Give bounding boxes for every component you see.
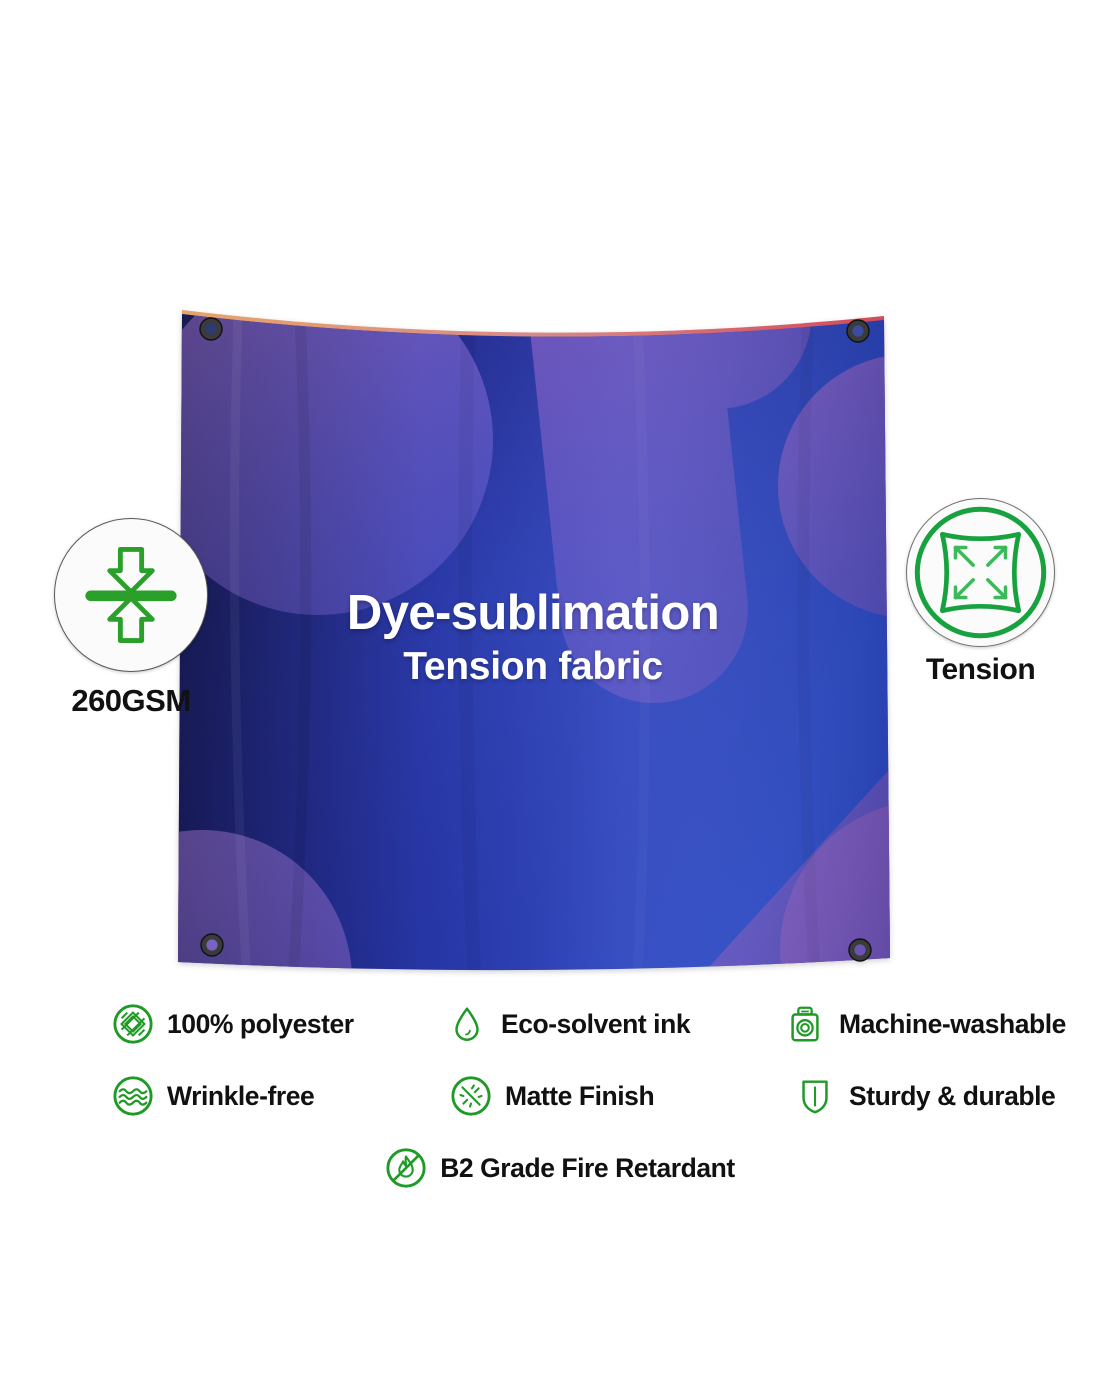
- tension-arrows: [956, 548, 1006, 598]
- tension-frame-icon: [907, 499, 1054, 646]
- feature-label: Eco-solvent ink: [501, 1009, 690, 1040]
- feature-label: Sturdy & durable: [849, 1081, 1055, 1112]
- fire-retardant-icon: [385, 1147, 427, 1189]
- washing-machine-icon: [784, 1003, 826, 1045]
- feature-row: Wrinkle-free Matte Finish: [0, 1060, 1100, 1132]
- tension-badge: Tension: [898, 498, 1063, 687]
- grommet-bottom-left: [201, 934, 223, 956]
- feature-item-fire-retardant: B2 Grade Fire Retardant: [385, 1147, 735, 1189]
- feature-label: 100% polyester: [167, 1009, 354, 1040]
- grommet-top-left: [200, 318, 222, 340]
- feature-list: 100% polyester Eco-solvent ink Machine-w…: [0, 988, 1100, 1204]
- feature-label: Matte Finish: [505, 1081, 654, 1112]
- grommet-bottom-right: [849, 939, 871, 961]
- tension-badge-circle: [906, 498, 1055, 647]
- tension-badge-caption: Tension: [898, 653, 1063, 687]
- feature-item-sturdy-durable: Sturdy & durable: [794, 1075, 1055, 1117]
- matte-no-shine-icon: [450, 1075, 492, 1117]
- feature-item-matte-finish: Matte Finish: [450, 1075, 780, 1117]
- tension-fabric-banner: Dye-sublimation Tension fabric: [168, 290, 898, 990]
- grommet-top-right: [847, 320, 869, 342]
- gsm-badge-circle: [54, 518, 208, 672]
- feature-item-polyester: 100% polyester: [112, 1003, 442, 1045]
- feature-row: B2 Grade Fire Retardant: [0, 1132, 1100, 1204]
- water-drop-icon: [446, 1003, 488, 1045]
- feature-item-machine-washable: Machine-washable: [784, 1003, 1066, 1045]
- waves-no-wrinkle-icon: [112, 1075, 154, 1117]
- compression-plate: [85, 590, 176, 601]
- gsm-badge-caption: 260GSM: [36, 683, 226, 719]
- feature-label: B2 Grade Fire Retardant: [440, 1153, 735, 1184]
- tension-frame-shape: [942, 534, 1018, 610]
- feature-label: Machine-washable: [839, 1009, 1066, 1040]
- banner-artwork: [168, 290, 898, 990]
- gsm-badge: 260GSM: [36, 518, 226, 719]
- banner-fold-shading: [168, 290, 898, 990]
- shield-icon: [794, 1075, 836, 1117]
- feature-item-wrinkle-free: Wrinkle-free: [112, 1075, 442, 1117]
- feature-item-eco-solvent-ink: Eco-solvent ink: [446, 1003, 776, 1045]
- feature-row: 100% polyester Eco-solvent ink Machine-w…: [0, 988, 1100, 1060]
- feature-label: Wrinkle-free: [167, 1081, 314, 1112]
- compression-arrows-icon: [55, 519, 207, 671]
- woven-mesh-icon: [112, 1003, 154, 1045]
